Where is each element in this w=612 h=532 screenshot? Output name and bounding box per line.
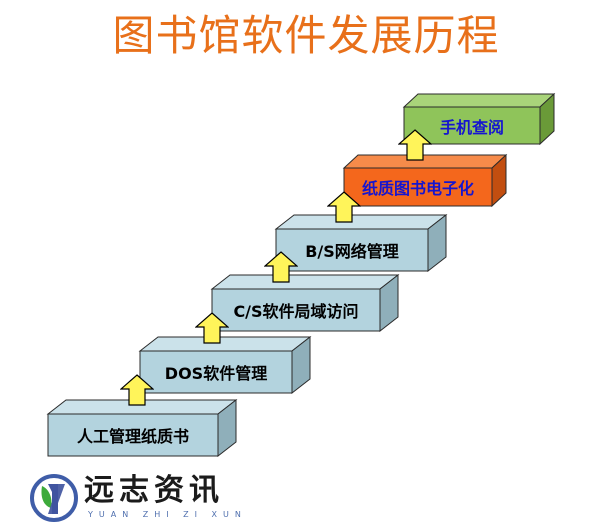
flow-arrow-3 bbox=[264, 251, 298, 283]
flow-arrow-5-shape bbox=[398, 129, 432, 161]
step-box-2-shape bbox=[140, 337, 312, 393]
step-box-1-shape bbox=[48, 400, 238, 456]
logo-name-cn: 远志资讯 bbox=[84, 474, 224, 508]
step-box-5-shape bbox=[344, 155, 508, 206]
flow-arrow-4-shape bbox=[327, 191, 361, 223]
step-box-5[interactable]: 纸质图书电子化 bbox=[344, 155, 508, 206]
logo-mark-shape bbox=[28, 472, 80, 524]
flow-arrow-2-shape bbox=[195, 312, 229, 344]
step-box-2[interactable]: DOS软件管理 bbox=[140, 337, 312, 393]
logo-mark-icon bbox=[28, 472, 80, 524]
page-title: 图书馆软件发展历程 bbox=[0, 10, 612, 62]
flow-arrow-3-shape bbox=[264, 251, 298, 283]
step-box-3[interactable]: C/S软件局域访问 bbox=[212, 275, 400, 331]
company-logo: 远志资讯 YUAN ZHI ZI XUN bbox=[22, 468, 252, 530]
step-box-4[interactable]: B/S网络管理 bbox=[276, 215, 448, 271]
step-box-1[interactable]: 人工管理纸质书 bbox=[48, 400, 238, 456]
logo-name-pinyin: YUAN ZHI ZI XUN bbox=[88, 510, 247, 520]
slide-canvas: 图书馆软件发展历程 人工管理纸质书 DOS软件管理 C/S软件局域访问 bbox=[0, 0, 612, 532]
flow-arrow-1-shape bbox=[120, 374, 154, 406]
flow-arrow-5 bbox=[398, 129, 432, 161]
flow-arrow-1 bbox=[120, 374, 154, 406]
step-box-4-shape bbox=[276, 215, 448, 271]
step-box-3-shape bbox=[212, 275, 400, 331]
flow-arrow-2 bbox=[195, 312, 229, 344]
flow-arrow-4 bbox=[327, 191, 361, 223]
